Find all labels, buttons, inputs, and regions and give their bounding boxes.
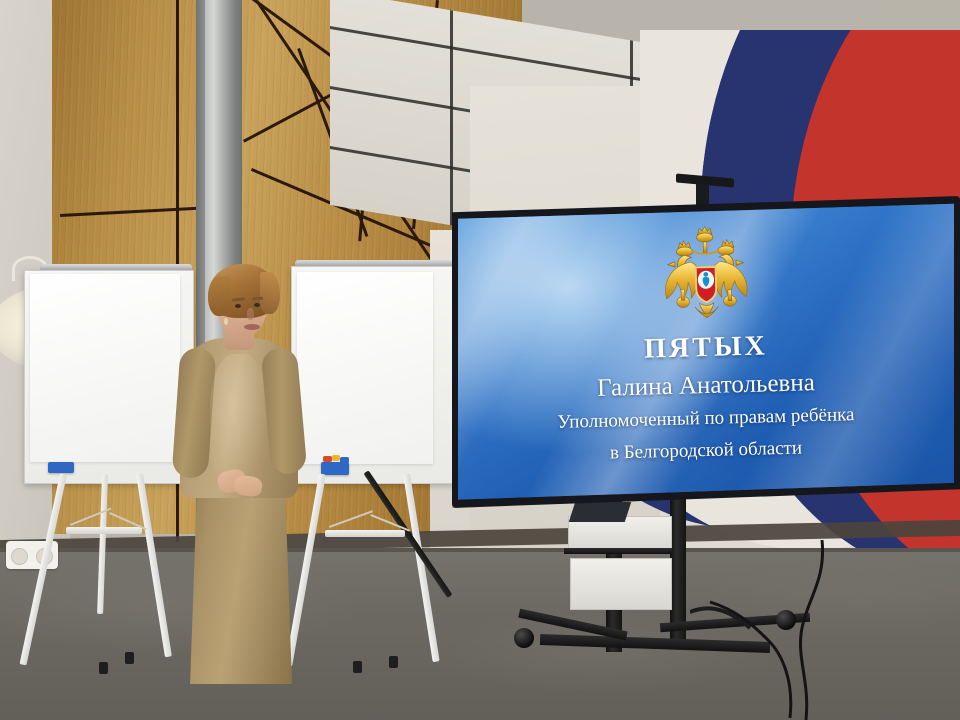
camera-mount bbox=[676, 176, 734, 206]
display-frame: ПЯТЫХ Галина Анатольевна Уполномоченный … bbox=[452, 196, 960, 508]
person-hair-side bbox=[260, 272, 280, 314]
board-eraser[interactable] bbox=[48, 462, 74, 473]
laptop[interactable] bbox=[569, 502, 631, 522]
person-brow bbox=[252, 297, 263, 301]
flipchart-paper bbox=[30, 274, 180, 462]
easel-leg bbox=[20, 473, 67, 665]
person-earring bbox=[224, 318, 228, 325]
person-nose bbox=[247, 308, 254, 320]
easel-leg bbox=[97, 474, 108, 614]
easel-foot bbox=[389, 656, 398, 668]
cables bbox=[690, 540, 850, 720]
person-eye bbox=[254, 303, 260, 307]
easel-foot bbox=[125, 652, 134, 664]
person-eye bbox=[235, 304, 241, 308]
person-hair-side bbox=[208, 276, 230, 316]
easel-foot bbox=[99, 662, 108, 674]
cart-rail bbox=[564, 548, 672, 554]
camera-stem bbox=[696, 184, 709, 206]
flipchart-left[interactable] bbox=[10, 262, 190, 682]
caster-wheel bbox=[514, 628, 534, 648]
easel-leg bbox=[136, 473, 172, 657]
easel-crossbar bbox=[66, 527, 142, 534]
cart-post bbox=[670, 480, 686, 640]
speaker-person bbox=[168, 262, 368, 682]
russian-eagle-emblem bbox=[650, 223, 761, 339]
photo-scene: ПЯТЫХ Галина Анатольевна Уполномоченный … bbox=[0, 0, 960, 720]
cart-shelf-lower bbox=[570, 558, 672, 610]
person-mouth bbox=[244, 324, 260, 330]
display-screen[interactable]: ПЯТЫХ Галина Анатольевна Уполномоченный … bbox=[458, 202, 954, 502]
